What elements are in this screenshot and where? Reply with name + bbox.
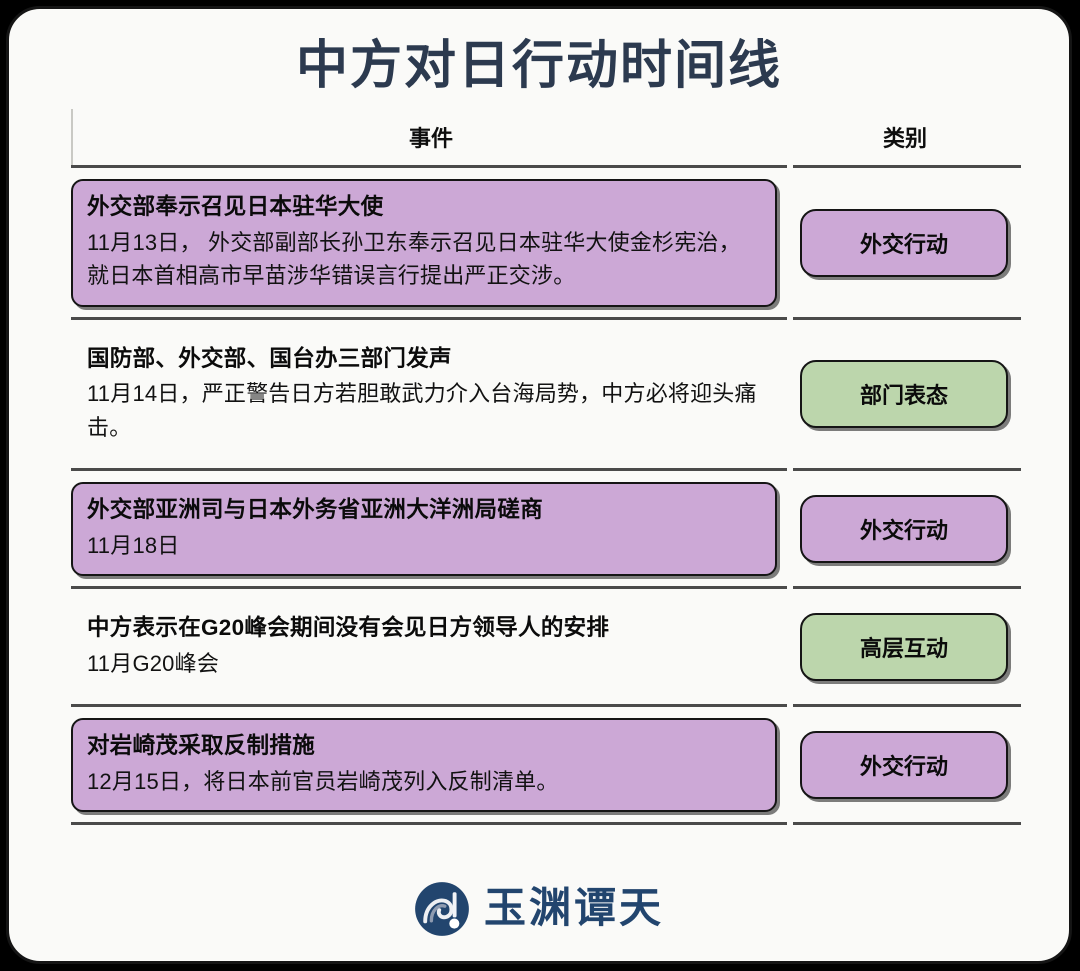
event-box: 对岩崎茂采取反制措施12月15日，将日本前官员岩崎茂列入反制清单。 — [71, 718, 777, 812]
event-cell: 外交部奉示召见日本驻华大使11月13日， 外交部副部长孙卫东奉示召见日本驻华大使… — [71, 169, 787, 317]
table-row: 对岩崎茂采取反制措施12月15日，将日本前官员岩崎茂列入反制清单。外交行动 — [71, 708, 1021, 822]
event-description: 12月15日，将日本前官员岩崎茂列入反制清单。 — [87, 765, 761, 798]
event-description: 11月G20峰会 — [87, 647, 761, 680]
footer-brand: 玉渊谭天 — [9, 881, 1069, 937]
table-row: 外交部奉示召见日本驻华大使11月13日， 外交部副部长孙卫东奉示召见日本驻华大使… — [71, 169, 1021, 317]
wave-spiral-circle-icon — [414, 881, 470, 937]
category-badge[interactable]: 外交行动 — [800, 495, 1008, 563]
event-box: 外交部奉示召见日本驻华大使11月13日， 外交部副部长孙卫东奉示召见日本驻华大使… — [71, 179, 777, 307]
infographic-card: 中方对日行动时间线 事件 类别 外交部奉示召见日本驻华大使11月13日， 外交部… — [6, 6, 1072, 964]
row-divider — [71, 822, 1021, 826]
table-row: 中方表示在G20峰会期间没有会见日方领导人的安排11月G20峰会高层互动 — [71, 590, 1021, 704]
divider-segment-category — [793, 704, 1021, 708]
divider-segment-category — [793, 165, 1021, 169]
timeline-table: 事件 类别 外交部奉示召见日本驻华大使11月13日， 外交部副部长孙卫东奉示召见… — [71, 109, 1021, 826]
event-cell: 中方表示在G20峰会期间没有会见日方领导人的安排11月G20峰会 — [71, 590, 787, 704]
category-badge[interactable]: 部门表态 — [800, 360, 1008, 428]
divider-segment-category — [793, 586, 1021, 590]
brand-wordmark: 玉渊谭天 — [484, 888, 664, 930]
category-cell: 外交行动 — [787, 209, 1021, 277]
divider-segment-category — [793, 822, 1021, 826]
category-cell: 高层互动 — [787, 613, 1021, 681]
divider-segment-category — [793, 317, 1021, 321]
category-cell: 部门表态 — [787, 360, 1021, 428]
table-header-row: 事件 类别 — [71, 109, 1021, 165]
category-cell: 外交行动 — [787, 495, 1021, 563]
divider-segment-event — [71, 822, 787, 826]
category-badge[interactable]: 外交行动 — [800, 209, 1008, 277]
event-box: 外交部亚洲司与日本外务省亚洲大洋洲局磋商11月18日 — [71, 482, 777, 576]
category-cell: 外交行动 — [787, 731, 1021, 799]
table-row: 国防部、外交部、国台办三部门发声11月14日，严正警告日方若胆敢武力介入台海局势… — [71, 321, 1021, 469]
page-title: 中方对日行动时间线 — [9, 35, 1069, 97]
column-header-category: 类别 — [789, 121, 1021, 153]
category-badge[interactable]: 高层互动 — [800, 613, 1008, 681]
event-description: 11月14日，严正警告日方若胆敢武力介入台海局势，中方必将迎头痛击。 — [87, 377, 761, 444]
event-cell: 外交部亚洲司与日本外务省亚洲大洋洲局磋商11月18日 — [71, 472, 787, 586]
column-header-event: 事件 — [73, 121, 789, 153]
table-body: 外交部奉示召见日本驻华大使11月13日， 外交部副部长孙卫东奉示召见日本驻华大使… — [71, 169, 1021, 826]
event-cell: 国防部、外交部、国台办三部门发声11月14日，严正警告日方若胆敢武力介入台海局势… — [71, 321, 787, 469]
category-badge[interactable]: 外交行动 — [800, 731, 1008, 799]
event-title: 中方表示在G20峰会期间没有会见日方领导人的安排 — [87, 612, 761, 645]
table-row: 外交部亚洲司与日本外务省亚洲大洋洲局磋商11月18日外交行动 — [71, 472, 1021, 586]
event-title: 国防部、外交部、国台办三部门发声 — [87, 343, 761, 376]
event-title: 外交部亚洲司与日本外务省亚洲大洋洲局磋商 — [87, 494, 761, 527]
event-description: 11月18日 — [87, 529, 761, 562]
event-box: 中方表示在G20峰会期间没有会见日方领导人的安排11月G20峰会 — [71, 600, 777, 694]
event-description: 11月13日， 外交部副部长孙卫东奉示召见日本驻华大使金杉宪治，就日本首相高市早… — [87, 226, 761, 293]
event-title: 对岩崎茂采取反制措施 — [87, 730, 761, 763]
event-title: 外交部奉示召见日本驻华大使 — [87, 191, 761, 224]
event-box: 国防部、外交部、国台办三部门发声11月14日，严正警告日方若胆敢武力介入台海局势… — [71, 331, 777, 459]
divider-segment-category — [793, 468, 1021, 472]
event-cell: 对岩崎茂采取反制措施12月15日，将日本前官员岩崎茂列入反制清单。 — [71, 708, 787, 822]
